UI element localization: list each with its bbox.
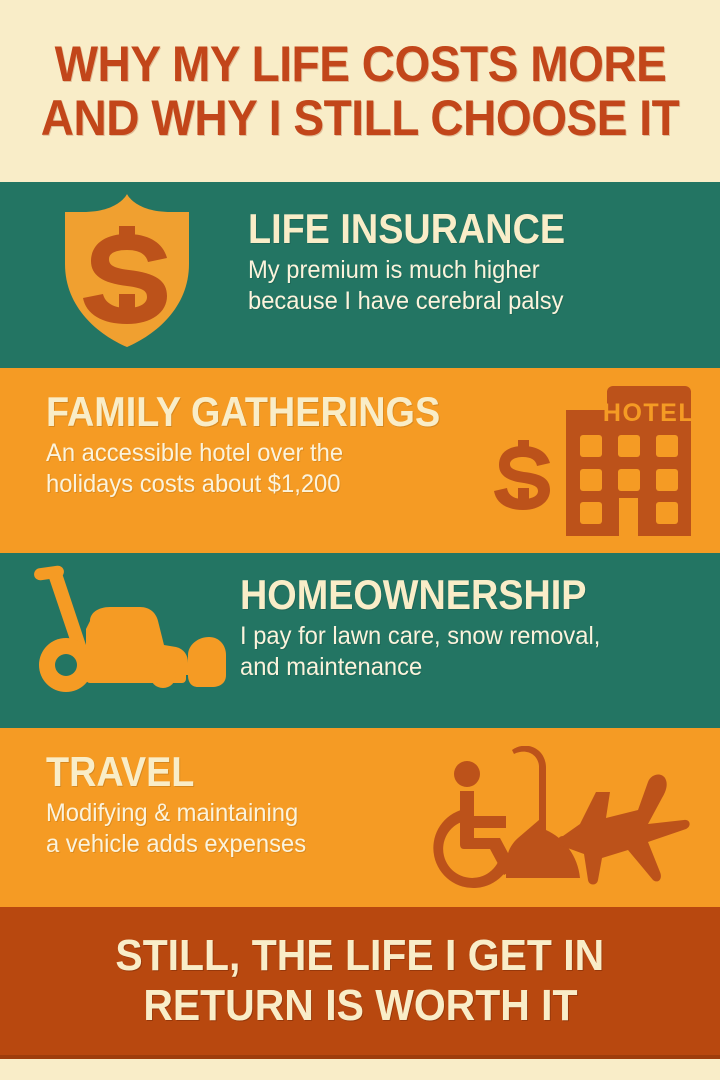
wheelchair-airplane-icon	[430, 746, 692, 896]
dollar-glyph	[494, 440, 550, 510]
section-body-homeownership: I pay for lawn care, snow removal, and m…	[240, 621, 606, 683]
section-body-life-insurance: My premium is much higher because I have…	[248, 255, 583, 317]
hotel-building-dollar-icon: HOTEL	[492, 378, 707, 543]
section-life-insurance: LIFE INSURANCE My premium is much higher…	[0, 182, 720, 368]
wheelchair-head	[454, 761, 480, 787]
shield-dollar-icon	[57, 190, 197, 350]
section-title-travel: TRAVEL	[46, 750, 292, 794]
lawn-mower-icon	[28, 563, 233, 703]
page-title-line-2: AND WHY I STILL CHOOSE IT	[41, 91, 680, 145]
infographic-poster: WHY MY LIFE COSTS MORE AND WHY I STILL C…	[0, 0, 720, 1080]
bottom-strip	[0, 1059, 720, 1080]
section-title-homeownership: HOMEOWNERSHIP	[240, 573, 587, 617]
section-homeownership: HOMEOWNERSHIP I pay for lawn care, snow …	[0, 553, 720, 728]
life-insurance-text-block: LIFE INSURANCE My premium is much higher…	[248, 207, 600, 317]
footer-line-1: STILL, THE LIFE I GET IN	[116, 931, 605, 981]
section-title-family-gatherings: FAMILY GATHERINGS	[46, 390, 440, 434]
section-body-travel: Modifying & maintaining a vehicle adds e…	[46, 798, 306, 860]
hotel-sign-label: HOTEL	[603, 399, 695, 427]
family-gatherings-text-block: FAMILY GATHERINGS An accessible hotel ov…	[46, 390, 484, 500]
header-banner: WHY MY LIFE COSTS MORE AND WHY I STILL C…	[0, 0, 720, 182]
section-family-gatherings: FAMILY GATHERINGS An accessible hotel ov…	[0, 368, 720, 553]
page-title-line-1: WHY MY LIFE COSTS MORE	[54, 37, 666, 91]
section-travel: TRAVEL Modifying & maintaining a vehicle…	[0, 728, 720, 907]
travel-text-block: TRAVEL Modifying & maintaining a vehicle…	[46, 750, 320, 860]
footer-banner: STILL, THE LIFE I GET IN RETURN IS WORTH…	[0, 907, 720, 1055]
homeownership-text-block: HOMEOWNERSHIP I pay for lawn care, snow …	[240, 573, 625, 683]
section-title-life-insurance: LIFE INSURANCE	[248, 207, 565, 251]
section-body-family-gatherings: An accessible hotel over the holidays co…	[46, 438, 462, 500]
hotel-windows	[580, 435, 678, 524]
footer-line-2: RETURN IS WORTH IT	[143, 981, 577, 1031]
